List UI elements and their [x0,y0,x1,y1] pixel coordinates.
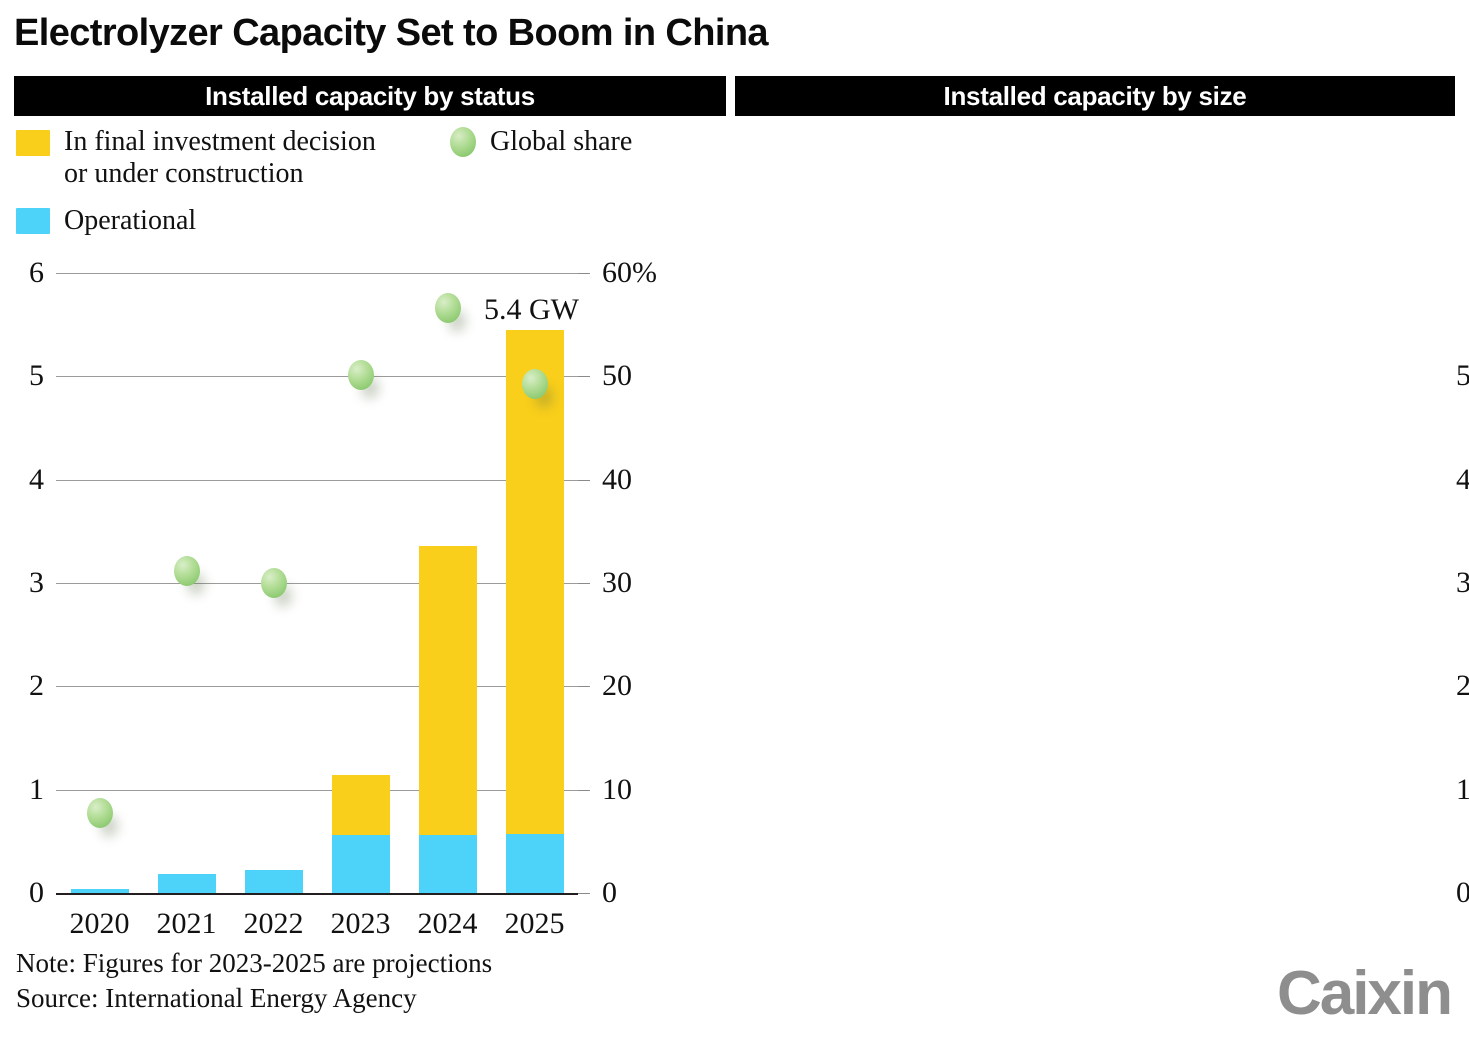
bar-segment [71,889,129,893]
y2-axis-tick-label: 10 [602,775,632,805]
footer-note-block: Note: Figures for 2023-2025 are projecti… [16,946,492,1016]
bar-segment [419,546,477,835]
panel-header-left: Installed capacity by status [14,76,726,116]
y-axis-tick-label: 2 [1431,671,1469,701]
y2-axis-tick-label: 60% [602,258,657,288]
global-share-dot [87,798,113,828]
bar-segment [506,834,564,893]
y-axis-tick-label: 6 [4,258,44,288]
bar-segment [245,870,303,893]
legend-item-global-share: Global share [450,126,632,158]
plot-area-left: 01234560102030405060%2020202120222023202… [56,273,578,893]
global-share-dot [435,293,461,323]
y2-axis-tick-label: 0 [602,878,617,908]
page-title: Electrolyzer Capacity Set to Boom in Chi… [14,12,768,55]
y2-tickmark [578,376,590,377]
gridline [56,376,578,377]
y-axis-tick-label: 4 [1431,465,1469,495]
y-axis-tick-label: 3 [1431,568,1469,598]
y-axis-tick-label: 4 [4,465,44,495]
legend: In final investment decision or under co… [16,126,716,237]
bar-segment [332,775,390,835]
global-share-dot [174,556,200,586]
x-axis-tick-label: 2022 [244,907,304,941]
y2-tickmark [578,480,590,481]
global-share-dot [522,369,548,399]
y-axis-tick-label: 5 [1431,361,1469,391]
legend-label-fid: In final investment decision or under co… [64,126,376,191]
y2-tickmark [578,790,590,791]
bar-segment [332,835,390,893]
y-axis-tick-label: 3 [4,568,44,598]
y2-axis-tick-label: 20 [602,671,632,701]
callout-total-gw-left: 5.4 GW [484,293,579,327]
y-axis-tick-label: 0 [1431,878,1469,908]
axis-baseline [56,893,578,895]
y2-tickmark [578,686,590,687]
y-axis-tick-label: 0 [4,878,44,908]
panel-header-right-label: Installed capacity by size [944,81,1247,112]
gridline [56,790,578,791]
chart-installed-capacity-by-status: 01234560102030405060%2020202120222023202… [0,258,700,858]
panel-header-right: Installed capacity by size [735,76,1455,116]
legend-swatch-fid [16,130,50,156]
footer-source: Source: International Energy Agency [16,981,492,1016]
bar-2024 [419,273,477,893]
legend-label-fid-line2: or under construction [64,158,304,189]
y-axis-tick-label: 1 [1431,775,1469,805]
legend-label-operational: Operational [64,205,196,237]
x-axis-tick-label: 2024 [418,907,478,941]
bar-segment [506,330,564,834]
y-axis-tick-label: 1 [4,775,44,805]
y2-tickmark [578,893,590,894]
bar-segment [419,835,477,893]
legend-swatch-global-share [450,127,476,157]
x-axis-tick-label: 2021 [157,907,217,941]
x-axis-tick-label: 2025 [505,907,565,941]
legend-label-fid-line1: In final investment decision [64,126,376,157]
bar-2025 [506,273,564,893]
x-axis-tick-label: 2020 [70,907,130,941]
y2-axis-tick-label: 50 [602,361,632,391]
y2-tickmark [578,583,590,584]
caixin-logo: Caixin [1277,958,1451,1029]
legend-label-global-share: Global share [490,126,632,158]
y-axis-tick-label: 2 [4,671,44,701]
panel-header-left-label: Installed capacity by status [205,81,535,112]
gridline [56,686,578,687]
x-axis-tick-label: 2023 [331,907,391,941]
legend-item-operational: Operational Global share [16,205,716,237]
gridline [56,583,578,584]
y-axis-tick-label: 5 [4,361,44,391]
y2-tickmark [578,273,590,274]
global-share-dot [261,568,287,598]
footer-note: Note: Figures for 2023-2025 are projecti… [16,946,492,981]
bar-segment [158,874,216,893]
gridline [56,273,578,274]
global-share-dot [348,360,374,390]
gridline [56,480,578,481]
legend-swatch-operational [16,208,50,234]
y2-axis-tick-label: 30 [602,568,632,598]
y2-axis-tick-label: 40 [602,465,632,495]
chart-installed-capacity-by-size: 0123452020202120222023202420255.4 GW>1,0… [718,258,1458,858]
